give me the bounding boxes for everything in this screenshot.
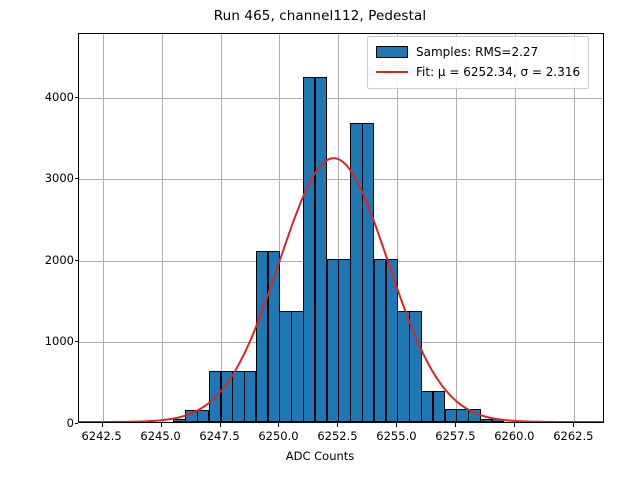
legend-label-fit: Fit: μ = 6252.34, σ = 2.316 xyxy=(416,65,580,79)
legend-item-fit: Fit: μ = 6252.34, σ = 2.316 xyxy=(376,62,580,82)
x-tick-mark xyxy=(220,423,221,427)
y-tick-label: 1000 xyxy=(45,334,74,348)
x-tick-mark xyxy=(161,423,162,427)
figure: Run 465, channel112, Pedestal 6242.56245… xyxy=(0,0,640,480)
legend-item-samples: Samples: RMS=2.27 xyxy=(376,42,580,62)
x-tick-mark xyxy=(573,423,574,427)
x-tick-label: 6262.5 xyxy=(553,429,593,443)
x-axis-label: ADC Counts xyxy=(0,449,640,463)
legend: Samples: RMS=2.27 Fit: μ = 6252.34, σ = … xyxy=(367,36,589,89)
y-tick-label: 0 xyxy=(67,416,74,430)
legend-patch-icon xyxy=(376,46,408,58)
y-tick-label: 4000 xyxy=(45,90,74,104)
plot-inner xyxy=(79,34,603,422)
x-tick-label: 6260.0 xyxy=(494,429,534,443)
x-tick-mark xyxy=(278,423,279,427)
x-tick-label: 6245.0 xyxy=(140,429,180,443)
x-tick-mark xyxy=(514,423,515,427)
fit-curve xyxy=(79,34,603,422)
x-tick-label: 6247.5 xyxy=(199,429,239,443)
y-tick-label: 3000 xyxy=(45,171,74,185)
y-tick-mark xyxy=(75,260,79,261)
x-tick-mark xyxy=(102,423,103,427)
y-tick-mark xyxy=(75,341,79,342)
gaussian-fit-path xyxy=(79,158,603,422)
x-tick-label: 6255.0 xyxy=(376,429,416,443)
y-tick-mark xyxy=(75,423,79,424)
y-tick-mark xyxy=(75,178,79,179)
legend-label-samples: Samples: RMS=2.27 xyxy=(416,45,538,59)
x-tick-label: 6250.0 xyxy=(258,429,298,443)
chart-title: Run 465, channel112, Pedestal xyxy=(0,8,640,24)
x-tick-label: 6252.5 xyxy=(317,429,357,443)
y-tick-mark xyxy=(75,97,79,98)
legend-line-icon xyxy=(376,71,408,73)
y-tick-label: 2000 xyxy=(45,253,74,267)
x-tick-mark xyxy=(337,423,338,427)
x-tick-label: 6257.5 xyxy=(435,429,475,443)
plot-area xyxy=(78,33,604,423)
x-tick-mark xyxy=(455,423,456,427)
x-tick-label: 6242.5 xyxy=(81,429,121,443)
x-tick-mark xyxy=(396,423,397,427)
